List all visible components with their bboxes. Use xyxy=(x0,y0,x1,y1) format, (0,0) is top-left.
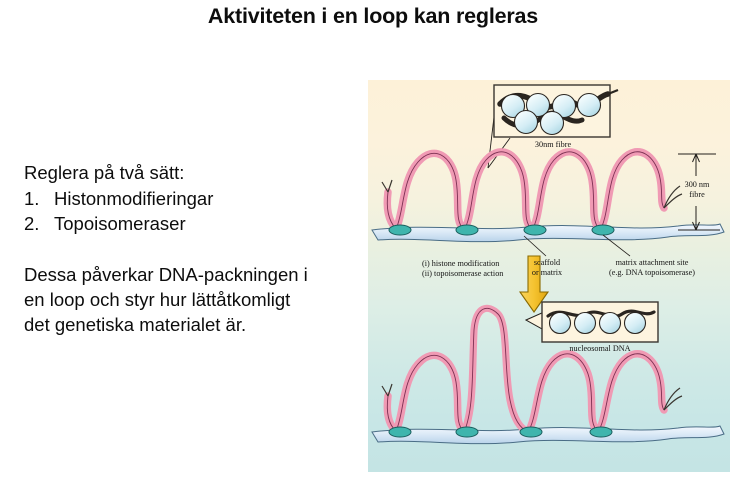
callout-box-nucleosomal xyxy=(542,302,658,342)
scaffold-ribbon-top xyxy=(372,224,724,242)
scaffold-ribbon-bottom xyxy=(372,426,724,444)
label-300nm-line1: 300 nm xyxy=(674,180,720,190)
label-300nm-line2: fibre xyxy=(674,190,720,200)
label-matrix-attachment-site: matrix attachment site (e.g. DNA topoiso… xyxy=(582,258,722,278)
paragraph-line: Dessa påverkar DNA-packningen i xyxy=(24,262,344,287)
label-scaffold-line1: scaffold xyxy=(518,258,576,268)
label-300nm-fibre: 300 nm fibre xyxy=(674,180,720,200)
list-item: 2. Topoisomeraser xyxy=(24,211,344,236)
label-matrix-line2: (e.g. DNA topoisomerase) xyxy=(582,268,722,278)
label-30nm-fibre: 30nm fibre xyxy=(510,140,596,150)
description-paragraph: Dessa påverkar DNA-packningen i en loop … xyxy=(24,262,344,337)
chromatin-loops-top xyxy=(382,152,682,230)
label-matrix-line1: matrix attachment site xyxy=(582,258,722,268)
lead-text: Reglera på två sätt: xyxy=(24,160,344,185)
label-action-line1: (i) histone modification xyxy=(422,259,503,269)
callout-leader-bottom xyxy=(526,312,544,330)
list-item-number: 2. xyxy=(24,211,54,236)
slide-canvas: Aktiviteten i en loop kan regleras Regle… xyxy=(0,0,746,482)
label-nucleosomal-dna: nucleosomal DNA xyxy=(542,344,658,354)
list-item: 1. Histonmodifieringar xyxy=(24,186,344,211)
list-item-label: Topoisomeraser xyxy=(54,211,186,236)
list-item-label: Histonmodifieringar xyxy=(54,186,213,211)
label-action-line2: (ii) topoisomerase action xyxy=(422,269,503,279)
label-modification-actions: (i) histone modification (ii) topoisomer… xyxy=(422,259,503,279)
label-scaffold-or-matrix: scaffold or matrix xyxy=(518,258,576,278)
body-text-block: Reglera på två sätt: 1. Histonmodifierin… xyxy=(24,160,344,337)
paragraph-line: det genetiska materialet är. xyxy=(24,312,344,337)
label-scaffold-line2: or matrix xyxy=(518,268,576,278)
page-title: Aktiviteten i en loop kan regleras xyxy=(0,4,746,29)
list-item-number: 1. xyxy=(24,186,54,211)
chromatin-loop-regulation-figure: 30nm fibre 300 nm fibre scaffold or matr… xyxy=(368,80,730,472)
paragraph-line: en loop och styr hur lättåtkomligt xyxy=(24,287,344,312)
callout-box-30nm xyxy=(494,85,618,137)
numbered-list: 1. Histonmodifieringar 2. Topoisomeraser xyxy=(24,186,344,236)
